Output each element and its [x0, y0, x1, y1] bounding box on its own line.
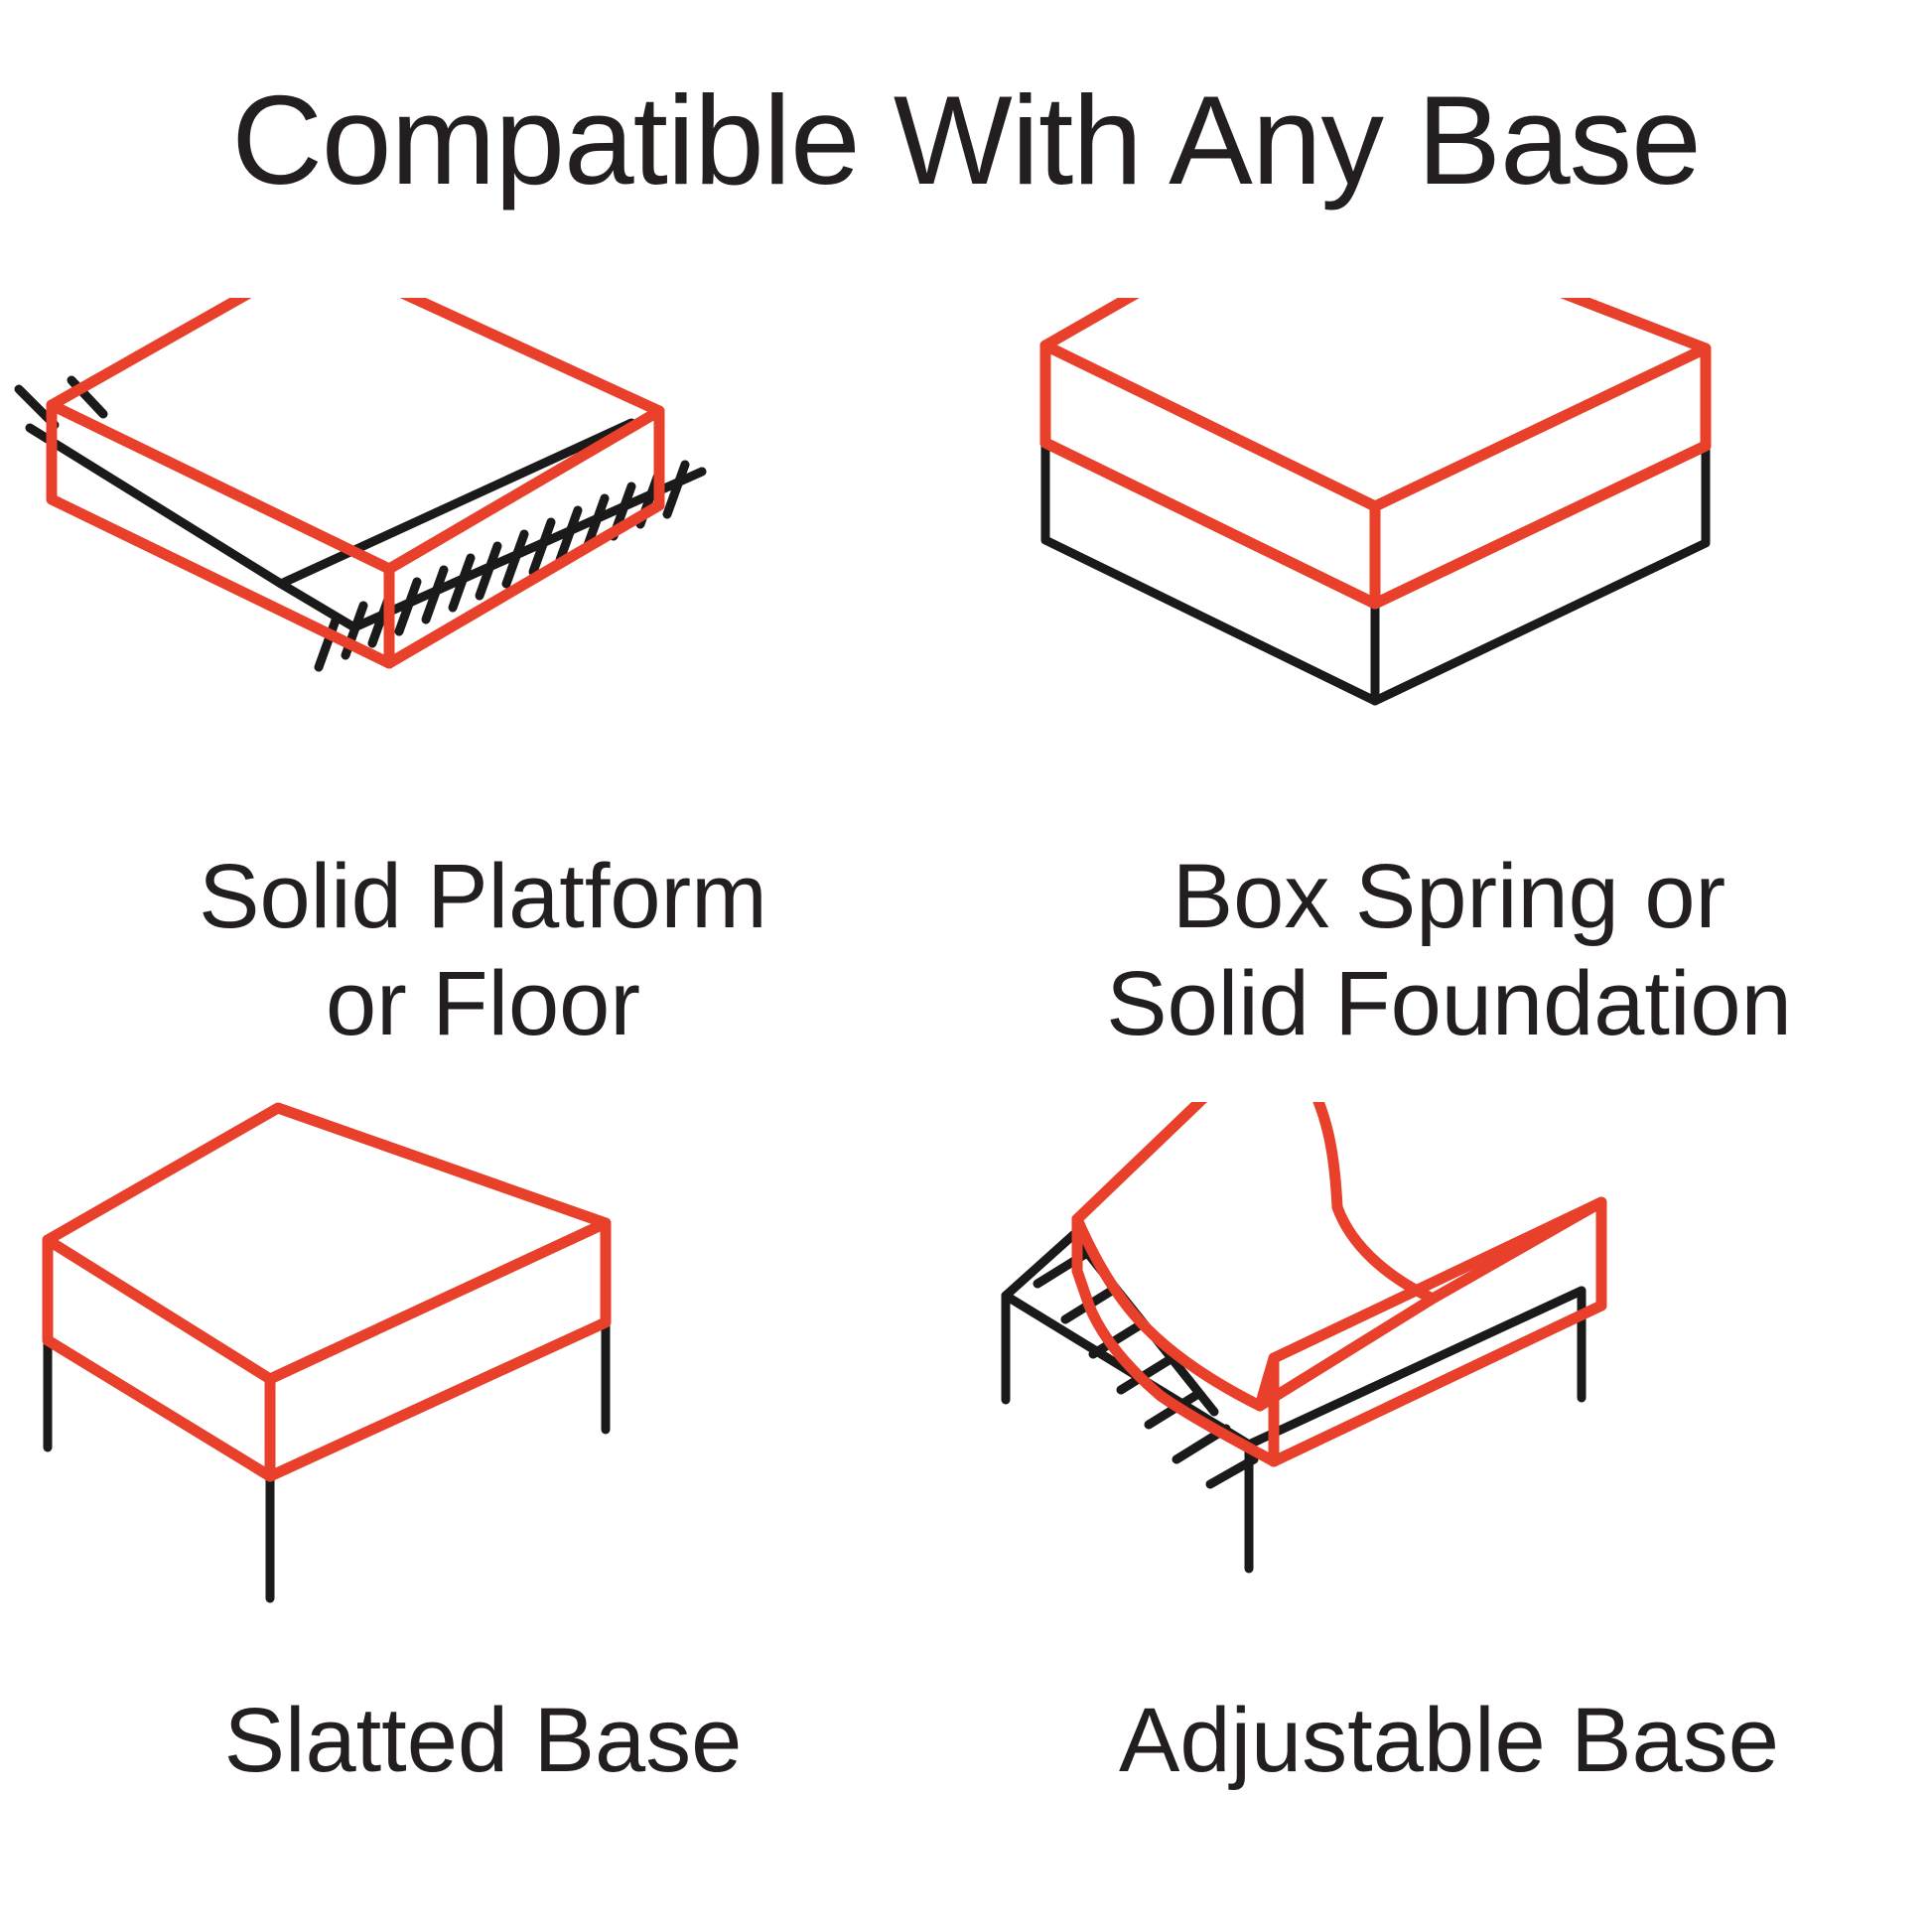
mattress-on-solid-platform-icon: [0, 298, 966, 854]
mattress-on-box-spring-icon: [966, 298, 1932, 854]
caption-line-1: Slatted Base: [0, 1688, 966, 1795]
compatible-with-any-base-infographic: Compatible With Any Base: [0, 0, 1932, 1932]
caption-line-2: Solid Foundation: [966, 951, 1932, 1058]
mattress-on-adjustable-base-icon: [966, 1102, 1932, 1658]
mattress-shape: [48, 1108, 606, 1476]
panel-solid-platform-or-floor: Solid Platform or Floor: [0, 298, 966, 1102]
base-type-grid: Solid Platform or Floor: [0, 298, 1932, 1926]
solid-platform-base-shape: [19, 380, 702, 667]
panel-caption: Adjustable Base: [966, 1688, 1932, 1795]
caption-line-1: Box Spring or: [966, 844, 1932, 951]
panel-caption: Box Spring or Solid Foundation: [966, 844, 1932, 1057]
caption-line-1: Adjustable Base: [966, 1688, 1932, 1795]
panel-adjustable-base: Adjustable Base: [966, 1102, 1932, 1906]
caption-line-2: or Floor: [0, 951, 966, 1058]
mattress-on-slatted-base-icon: [0, 1102, 966, 1658]
panel-caption: Solid Platform or Floor: [0, 844, 966, 1057]
panel-slatted-base: Slatted Base: [0, 1102, 966, 1906]
adjustable-frame-shape: [1006, 1235, 1582, 1569]
page-title: Compatible With Any Base: [0, 77, 1932, 204]
caption-line-1: Solid Platform: [0, 844, 966, 951]
panel-caption: Slatted Base: [0, 1688, 966, 1795]
panel-box-spring-or-solid-foundation: Box Spring or Solid Foundation: [966, 298, 1932, 1102]
mattress-shape: [1045, 298, 1706, 604]
mattress-shape: [52, 298, 659, 663]
